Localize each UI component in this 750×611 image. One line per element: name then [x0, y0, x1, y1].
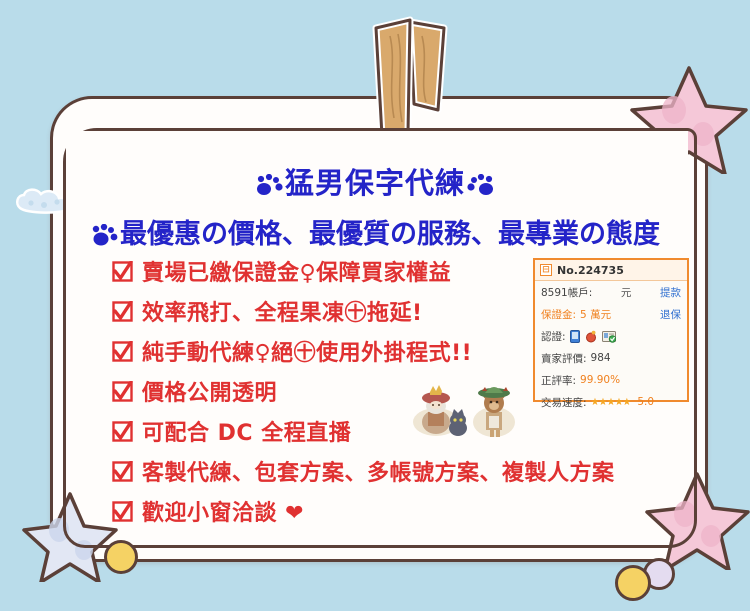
withdraw-link[interactable]: 提款 [660, 285, 681, 300]
checked-checkbox-icon [112, 501, 133, 522]
panel-header: ⊟ No.224735 [535, 260, 687, 281]
deposit-amount: 5 萬元 [580, 307, 656, 322]
list-item-label: 效率飛打、全程果凍㊉拖延! [142, 295, 423, 327]
list-item-label: 歡迎小窗洽談 ❤ [142, 495, 304, 527]
checked-checkbox-icon [112, 461, 133, 482]
page-subtitle: 最優惠の價格、最優質の服務、最專業の態度 [0, 212, 750, 251]
deposit-label: 保證金: [541, 307, 576, 322]
paw-print-icon [257, 174, 283, 196]
paw-print-icon [92, 224, 118, 246]
poster-canvas: 猛男保字代練 最優惠の價格、最優質の服務、最專業の態度 賣場已繳保證金♀保障買家… [0, 0, 750, 611]
trade-speed-label: 交易速度: [541, 395, 587, 410]
seller-rating-label: 賣家評價: [541, 351, 587, 366]
list-item: 歡迎小窗洽談 ❤ [112, 494, 652, 528]
page-title: 猛男保字代練 [0, 160, 750, 202]
certification-label: 認證: [541, 329, 566, 344]
positive-rate-row: 正評率: 99.90% [535, 369, 687, 391]
checked-checkbox-icon [112, 301, 133, 322]
wooden-clothespin-icon [352, 14, 454, 142]
id-card-verified-icon [602, 330, 616, 343]
seller-serial: No.224735 [557, 264, 624, 277]
list-item-label: 客製代練、包套方案、多帳號方案、複製人方案 [142, 455, 615, 487]
account-unit: 元 [596, 285, 656, 300]
trade-speed-value: 5.0 [637, 396, 654, 408]
checked-checkbox-icon [112, 261, 133, 282]
positive-rate-value: 99.90% [580, 374, 620, 386]
seller-rating-row: 賣家評價: 984 [535, 347, 687, 369]
account-label: 8591帳戶: [541, 285, 592, 300]
certification-row: 認證: [535, 325, 687, 347]
deposit-row: 保證金: 5 萬元 退保 [535, 303, 687, 325]
seller-rating-value: 984 [591, 352, 611, 364]
list-item-label: 可配合 DC 全程直播 [142, 415, 351, 447]
game-character-sprites [408, 382, 520, 444]
refund-deposit-link[interactable]: 退保 [660, 307, 681, 322]
seller-info-panel: ⊟ No.224735 8591帳戶: 元 提款 保證金: 5 萬元 退保 認證… [533, 258, 689, 402]
list-item-label: 價格公開透明 [142, 375, 277, 407]
paw-print-icon [467, 174, 493, 196]
page-subtitle-text: 最優惠の價格、最優質の服務、最專業の態度 [120, 219, 660, 250]
yellow-dot-icon [104, 540, 138, 574]
list-item: 可配合 DC 全程直播 [112, 414, 652, 448]
list-item-label: 賣場已繳保證金♀保障買家權益 [142, 255, 451, 287]
pink-star-icon [645, 470, 750, 570]
collapse-box-icon[interactable]: ⊟ [540, 264, 552, 276]
lavender-star-icon [22, 490, 118, 582]
checked-checkbox-icon [112, 341, 133, 362]
phone-verified-icon [570, 330, 580, 343]
yellow-dot-icon [615, 565, 651, 601]
trade-speed-row: 交易速度: ★★★★★ 5.0 [535, 391, 687, 413]
seal-verified-icon [586, 330, 596, 343]
list-item: 客製代練、包套方案、多帳號方案、複製人方案 [112, 454, 652, 488]
account-row: 8591帳戶: 元 提款 [535, 281, 687, 303]
checked-checkbox-icon [112, 381, 133, 402]
page-title-text: 猛男保字代練 [285, 166, 465, 200]
list-item-label: 純手動代練♀絕㊉使用外掛程式!! [142, 335, 472, 367]
positive-rate-label: 正評率: [541, 373, 576, 388]
trade-speed-stars: ★★★★★ [591, 397, 631, 408]
checked-checkbox-icon [112, 421, 133, 442]
